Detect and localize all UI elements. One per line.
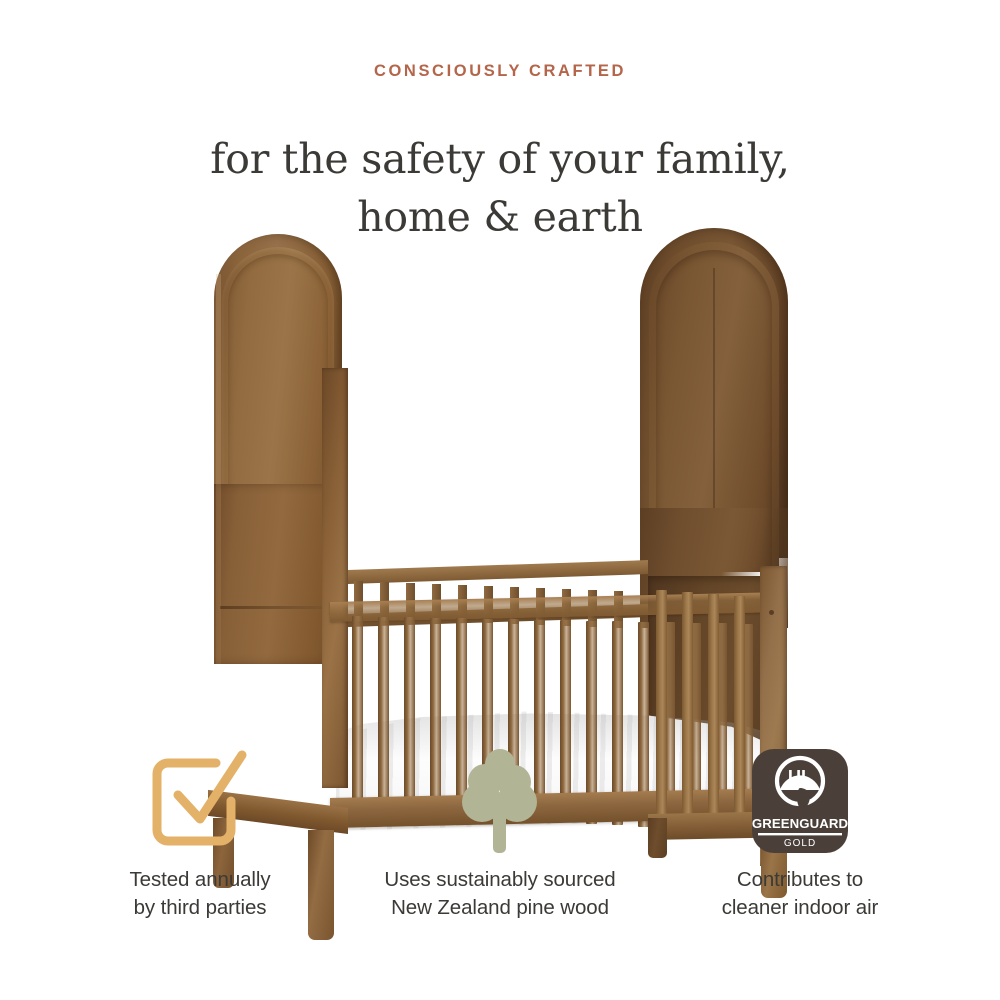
feature-caption: Uses sustainably sourced New Zealand pin… [384,866,615,922]
greenguard-gold-badge-icon: UL GREENGUARD GOLD [744,745,856,857]
feature-item-cleaner-air: UL GREENGUARD GOLD Contributes to cleane… [650,742,950,922]
feature-caption-line-1: Tested annually [130,868,271,891]
near-panel-seam [220,606,336,609]
feature-icon-wrap [142,742,258,860]
far-rail-top [348,560,648,584]
feature-caption-line-2: by third parties [130,894,271,922]
feature-icon-wrap: UL GREENGUARD GOLD [744,742,856,860]
feature-item-tested-annually: Tested annually by third parties [50,742,350,922]
feature-caption: Tested annually by third parties [130,866,271,922]
feature-caption-line-1: Uses sustainably sourced [384,868,615,891]
feature-caption-line-2: cleaner indoor air [722,894,879,922]
greenguard-brand-text: GREENGUARD [752,816,848,831]
ul-mark-text: UL [788,767,812,787]
feature-item-sustainable-wood: Uses sustainably sourced New Zealand pin… [350,742,650,922]
headline-line-1: for the safety of your family, [210,135,790,183]
crib-product-image [0,218,1000,728]
tree-icon [452,745,548,857]
feature-icon-wrap [452,742,548,860]
screw-hole-icon [769,610,774,615]
checkbox-check-icon [142,745,258,857]
feature-caption: Contributes to cleaner indoor air [722,866,879,922]
feature-caption-line-1: Contributes to [737,868,863,891]
greenguard-tier-text: GOLD [784,838,816,849]
near-panel-edge-highlight [216,274,221,664]
promo-page: CONSCIOUSLY CRAFTED for the safety of yo… [0,0,1000,1000]
eyebrow-text: CONSCIOUSLY CRAFTED [0,62,1000,81]
feature-list: Tested annually by third parties [0,742,1000,942]
feature-caption-line-2: New Zealand pine wood [384,894,615,922]
